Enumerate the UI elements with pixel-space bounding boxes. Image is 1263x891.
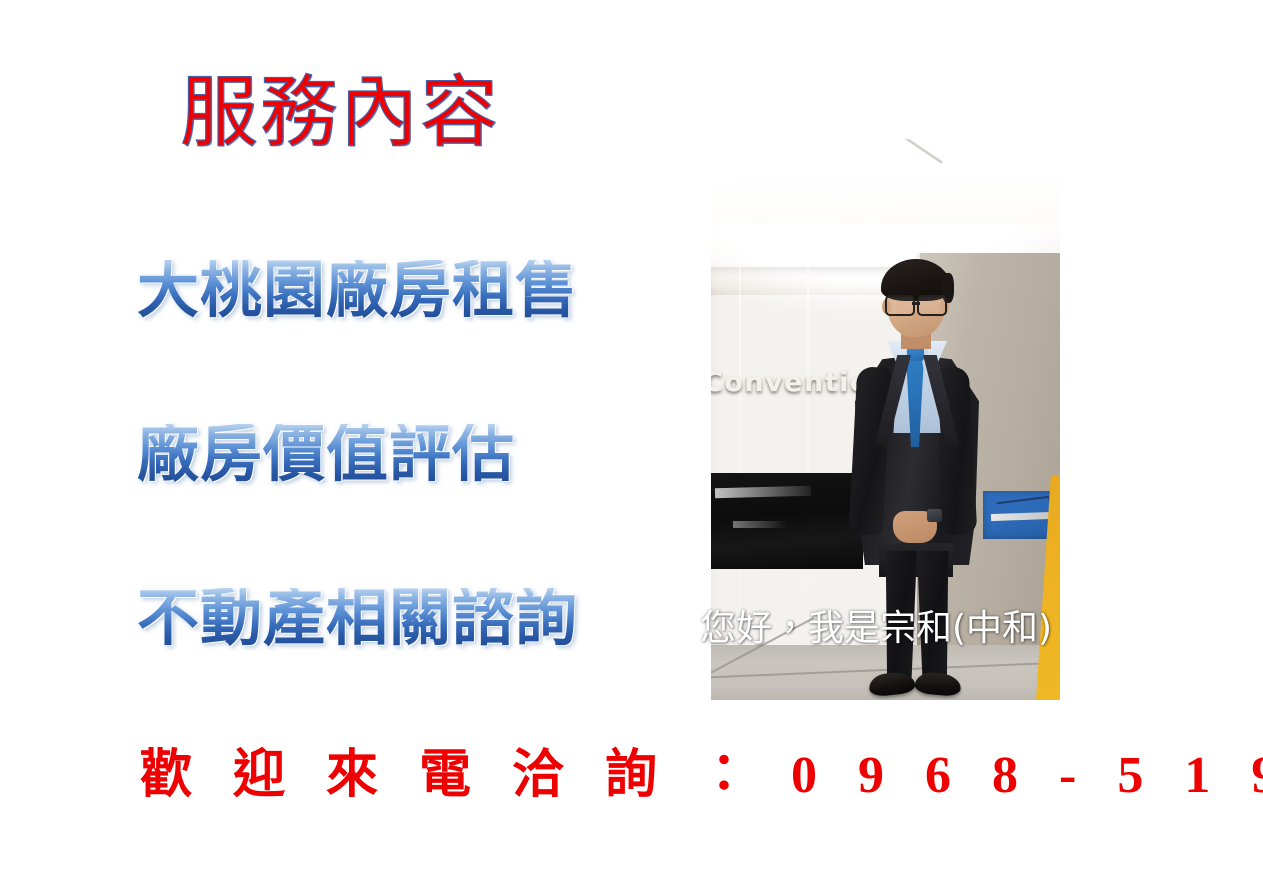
service-item-2: 廠房價值評估 — [137, 424, 515, 486]
contact-phone-line: 歡 迎 來 電 洽 詢 ： 0 9 6 8 - 5 1 9 - 8 8 8 — [140, 750, 1263, 802]
service-item-3: 不動產相關諮詢 — [137, 588, 578, 650]
wood-seam — [807, 267, 809, 657]
image-artifact-line — [905, 139, 943, 163]
slide-canvas: 服務內容 大桃園廠房租售 廠房價值評估 不動產相關諮詢 Convention C… — [0, 0, 1263, 891]
shoe-right — [914, 671, 962, 697]
page-title: 服務內容 — [180, 74, 500, 152]
photo-caption: 您好，我是宗和(中和) — [700, 609, 1052, 649]
service-item-1: 大桃園廠房租售 — [137, 260, 578, 322]
eyeglasses-icon — [884, 295, 948, 312]
wood-seam — [739, 267, 741, 657]
wristwatch — [927, 509, 942, 522]
